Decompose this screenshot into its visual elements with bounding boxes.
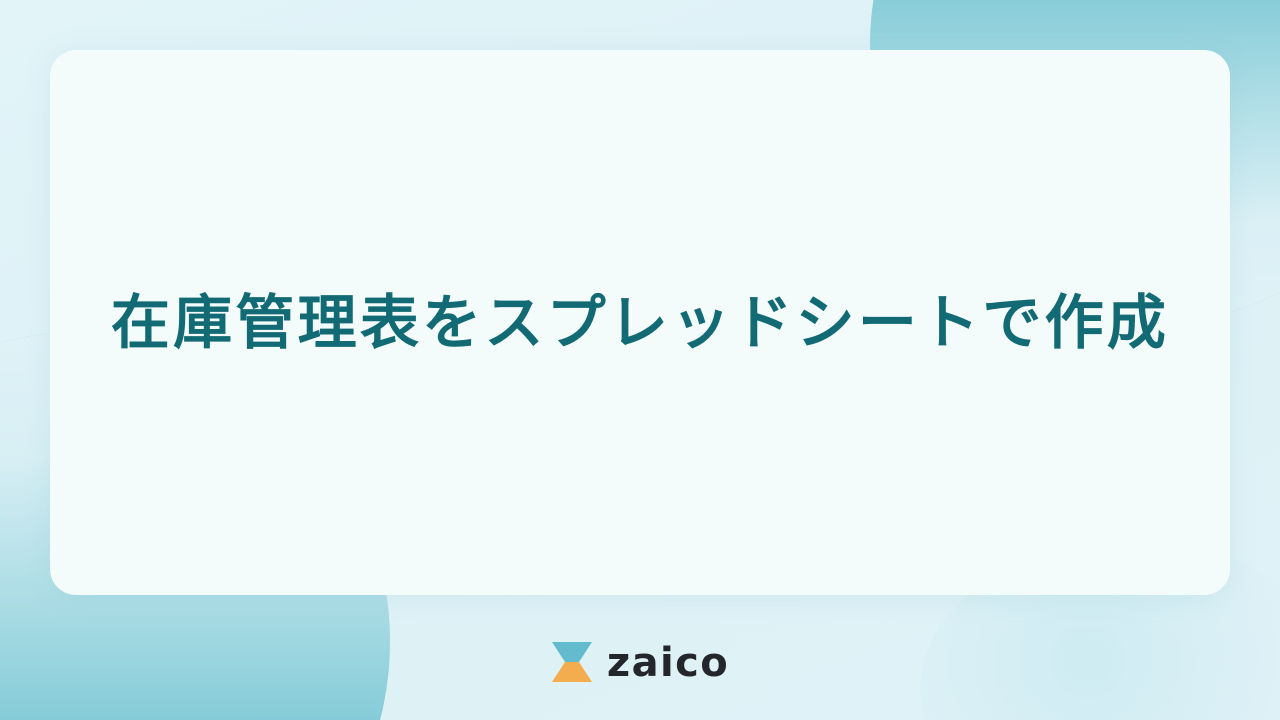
brand-wordmark: zaico bbox=[607, 643, 729, 683]
zaico-z-mark-icon bbox=[551, 640, 593, 684]
slide-title: 在庫管理表をスプレッドシートで作成 bbox=[81, 286, 1199, 360]
content-card: 在庫管理表をスプレッドシートで作成 bbox=[50, 50, 1230, 595]
brand-lockup: zaico bbox=[0, 640, 1280, 684]
slide-canvas: 在庫管理表をスプレッドシートで作成 zaico bbox=[0, 0, 1280, 720]
